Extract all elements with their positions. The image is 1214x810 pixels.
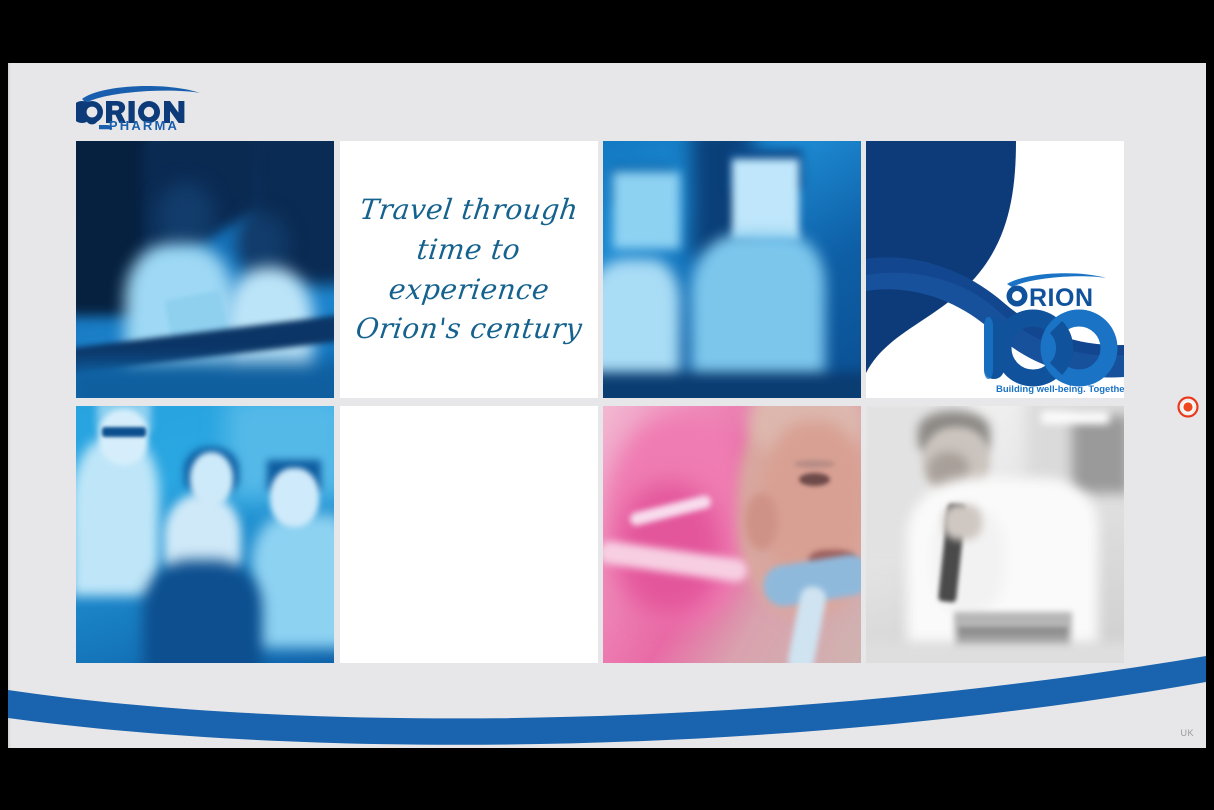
screen: PHARMA — [0, 0, 1214, 810]
region-label: UK — [1180, 728, 1194, 738]
presentation-slide: PHARMA — [8, 63, 1206, 748]
photo-colleagues-tablet — [76, 141, 334, 398]
photo-two-men — [603, 141, 861, 398]
letterbox-top — [0, 0, 1214, 63]
svg-text:PHARMA: PHARMA — [109, 118, 179, 130]
headline-line-3: experience — [387, 270, 552, 310]
tile-office-team[interactable] — [76, 406, 334, 663]
tile-two-men[interactable] — [603, 141, 861, 398]
letterbox-bottom — [0, 748, 1214, 810]
orion-100-artwork: RION Building well-being. Together. — [866, 141, 1124, 398]
orion-pharma-logo: PHARMA — [76, 82, 212, 130]
headline-line-2: time to — [415, 230, 523, 270]
orion-100-tagline: Building well-being. Together. — [996, 384, 1124, 395]
headline-line-4: Orion's century — [354, 309, 585, 349]
tile-orion-100[interactable]: RION Building well-being. Together. — [866, 141, 1124, 398]
image-grid: Travel through time to experience Orion'… — [76, 141, 1130, 665]
brand-swoosh — [8, 638, 1206, 748]
tile-colleagues-tablet[interactable] — [76, 141, 334, 398]
headline-script: Travel through time to experience Orion'… — [340, 141, 598, 398]
photo-office-team — [76, 406, 334, 663]
svg-text:RION: RION — [1029, 284, 1094, 312]
headline-line-1: Travel through — [357, 190, 580, 230]
tile-lab-scientist[interactable] — [866, 406, 1124, 663]
tile-headline: Travel through time to experience Orion'… — [340, 141, 598, 398]
tile-blank — [340, 406, 598, 663]
photo-patient-inhaler — [603, 406, 861, 663]
tile-patient-inhaler[interactable] — [603, 406, 861, 663]
record-indicator-icon[interactable] — [1176, 395, 1200, 419]
photo-lab-scientist — [866, 406, 1124, 663]
